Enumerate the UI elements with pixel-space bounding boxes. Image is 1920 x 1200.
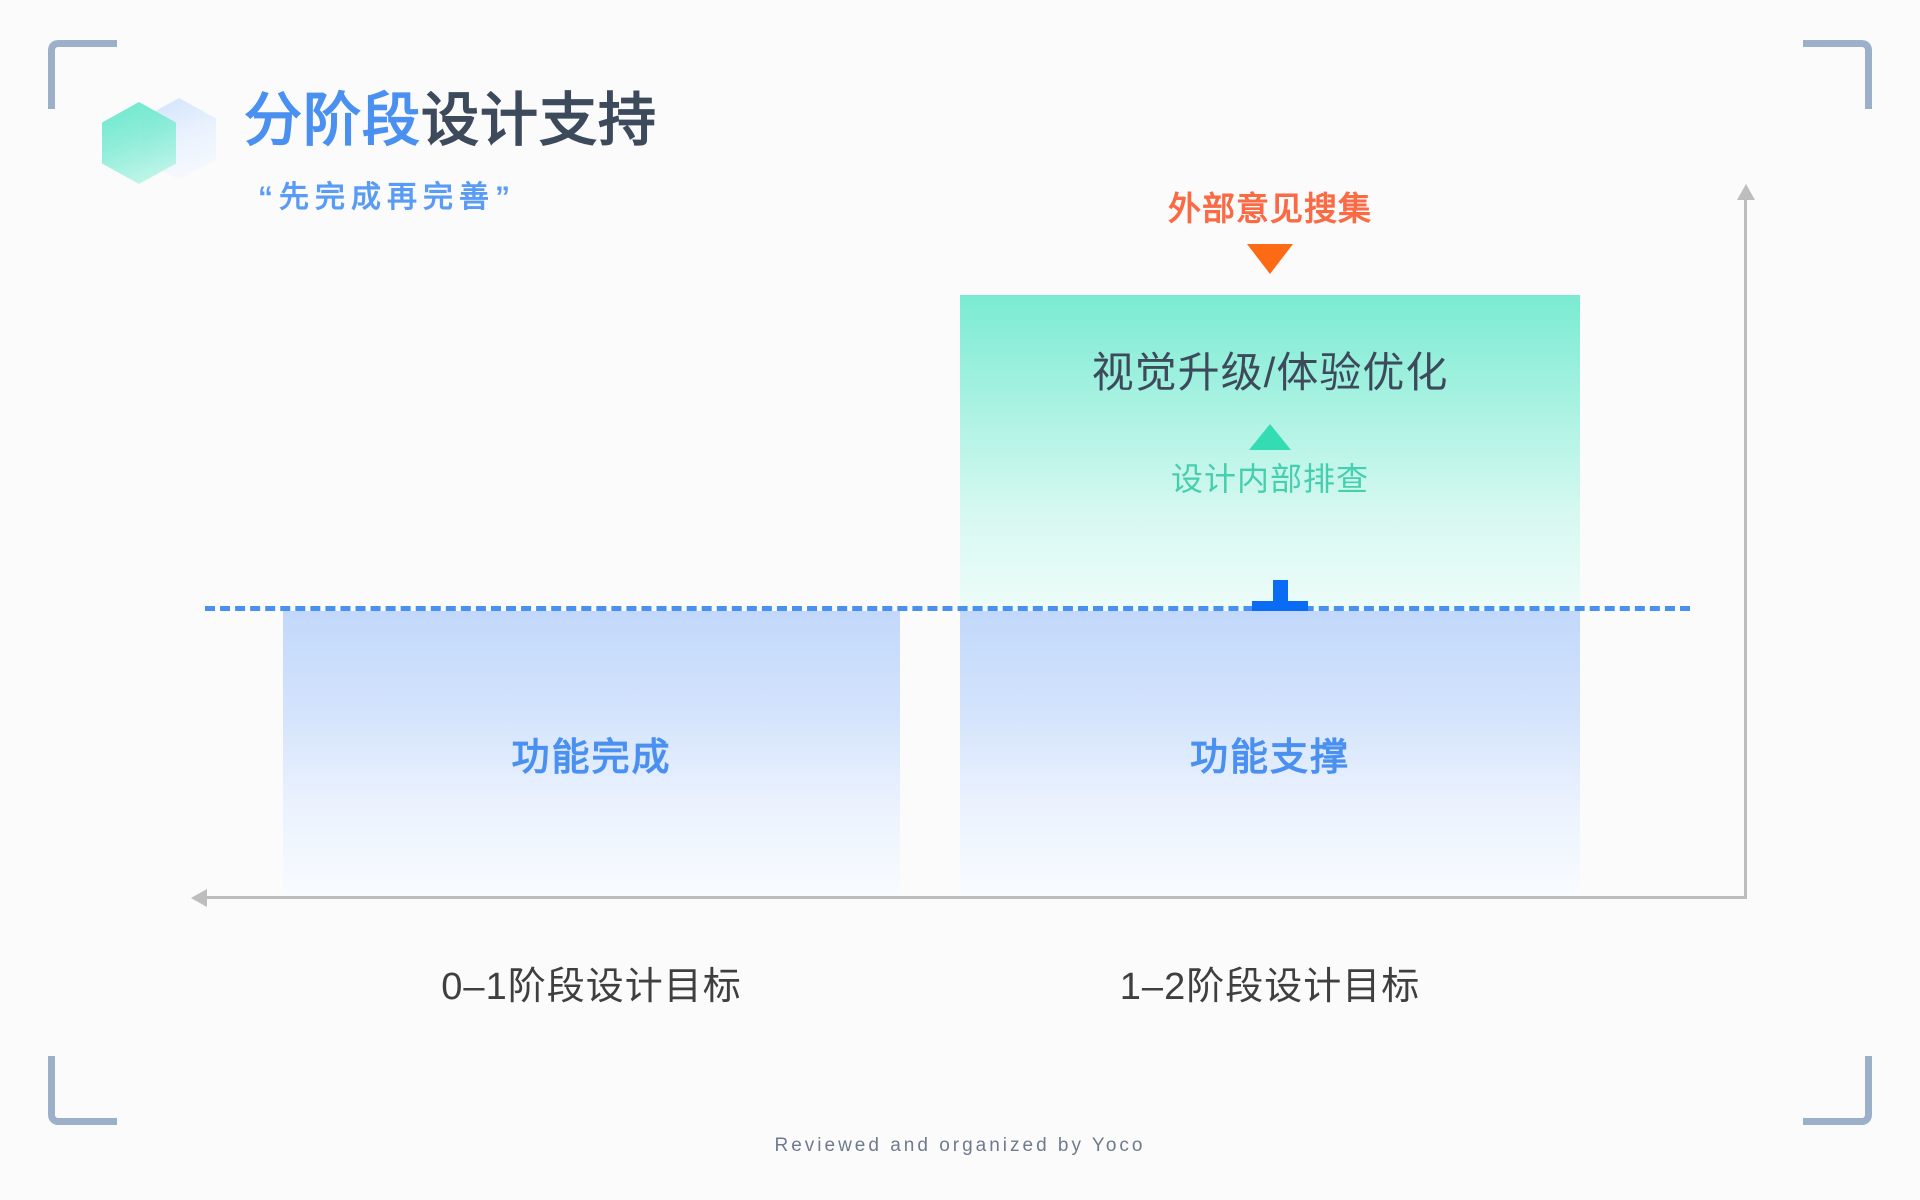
bar-segment-function-complete-label: 功能完成 (511, 726, 671, 781)
arrow-left-icon (191, 889, 207, 907)
y-axis (1744, 198, 1747, 898)
stage-bar-chart: 外部意见搜集 视觉升级/体验优化 设计内部排查 功能完成 功能支撑 0–1阶段设… (0, 0, 1920, 1200)
footer-credit: Reviewed and organized by Yoco (0, 1135, 1920, 1157)
bar-segment-function-complete: 功能完成 (283, 611, 900, 896)
triangle-down-icon (1247, 244, 1293, 274)
external-feedback-annotation: 外部意见搜集 (960, 182, 1580, 274)
x-axis (205, 896, 1747, 899)
bar-segment-visual-upgrade-label: 视觉升级/体验优化 (960, 339, 1580, 400)
bar-segment-visual-upgrade: 视觉升级/体验优化 设计内部排查 (960, 295, 1580, 611)
bar-segment-function-support-label: 功能支撑 (1190, 726, 1350, 781)
bar-segment-function-support: 功能支撑 (960, 611, 1580, 896)
arrow-up-icon (1737, 184, 1755, 200)
x-axis-tick-label-stage-1-2: 1–2阶段设计目标 (960, 955, 1580, 1010)
slide-canvas: 分阶段设计支持 “先完成再完善” 外部意见搜集 视觉升级/体验优化 设计内部排查… (0, 0, 1920, 1200)
internal-review-label: 设计内部排查 (960, 454, 1580, 500)
external-feedback-label: 外部意见搜集 (960, 182, 1580, 230)
triangle-up-icon (1249, 424, 1291, 450)
x-axis-tick-label-stage-0-1: 0–1阶段设计目标 (283, 955, 900, 1010)
